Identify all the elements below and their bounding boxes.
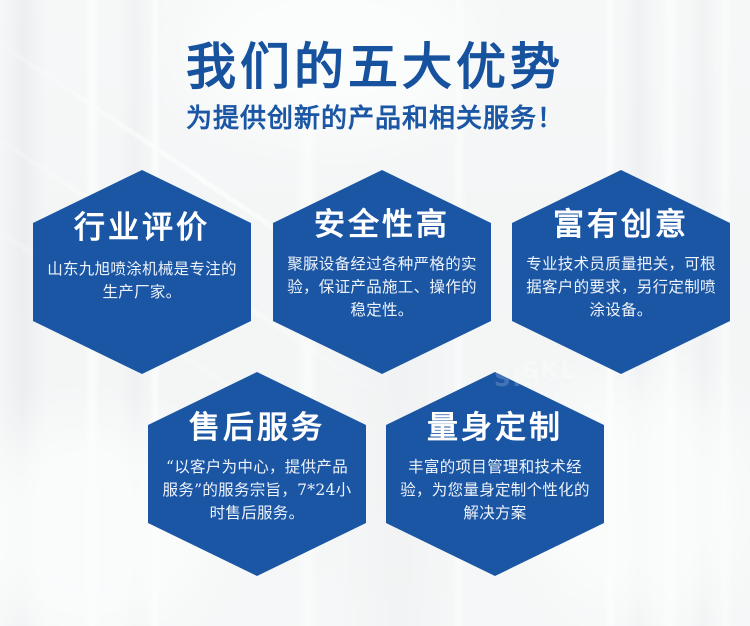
page-subtitle: 为提供创新的产品和相关服务！ — [0, 103, 750, 135]
advantage-title: 量身定制 — [427, 372, 563, 446]
advantage-body: 山东九旭喷涂机械是专注的生产厂家。 — [45, 246, 239, 304]
advantage-card-high-safety[interactable]: 安全性高 聚脲设备经过各种严格的实验，保证产品施工、操作的稳定性。 — [273, 170, 491, 374]
advantages-banner: 我们的五大优势 为提供创新的产品和相关服务！ 行业评价 山东九旭喷涂机械是专注的… — [0, 0, 750, 626]
advantage-card-industry-reputation[interactable]: 行业评价 山东九旭喷涂机械是专注的生产厂家。 — [33, 170, 251, 374]
advantage-card-after-sales-service[interactable]: 售后服务 “以客户为中心，提供产品服务”的服务宗旨，7*24小时售后服务。 — [148, 372, 366, 576]
advantage-body: 聚脲设备经过各种严格的实验，保证产品施工、操作的稳定性。 — [285, 243, 479, 322]
advantage-title: 富有创意 — [553, 170, 689, 243]
advantage-title: 售后服务 — [189, 372, 325, 446]
advantage-body: 丰富的项目管理和技术经验，为您量身定制个性化的解决方案 — [398, 446, 592, 525]
advantage-card-creative[interactable]: 富有创意 专业技术员质量把关，可根据客户的要求，另行定制喷涂设备。 — [512, 170, 730, 374]
advantage-body: 专业技术员质量把关，可根据客户的要求，另行定制喷涂设备。 — [524, 243, 718, 322]
banner-header: 我们的五大优势 为提供创新的产品和相关服务！ — [0, 38, 750, 135]
page-title: 我们的五大优势 — [0, 38, 750, 96]
advantage-body: “以客户为中心，提供产品服务”的服务宗旨，7*24小时售后服务。 — [160, 446, 354, 525]
advantage-title: 行业评价 — [74, 170, 210, 246]
advantage-title: 安全性高 — [314, 170, 450, 243]
advantage-card-tailored-customization[interactable]: 量身定制 丰富的项目管理和技术经验，为您量身定制个性化的解决方案 — [386, 372, 604, 576]
